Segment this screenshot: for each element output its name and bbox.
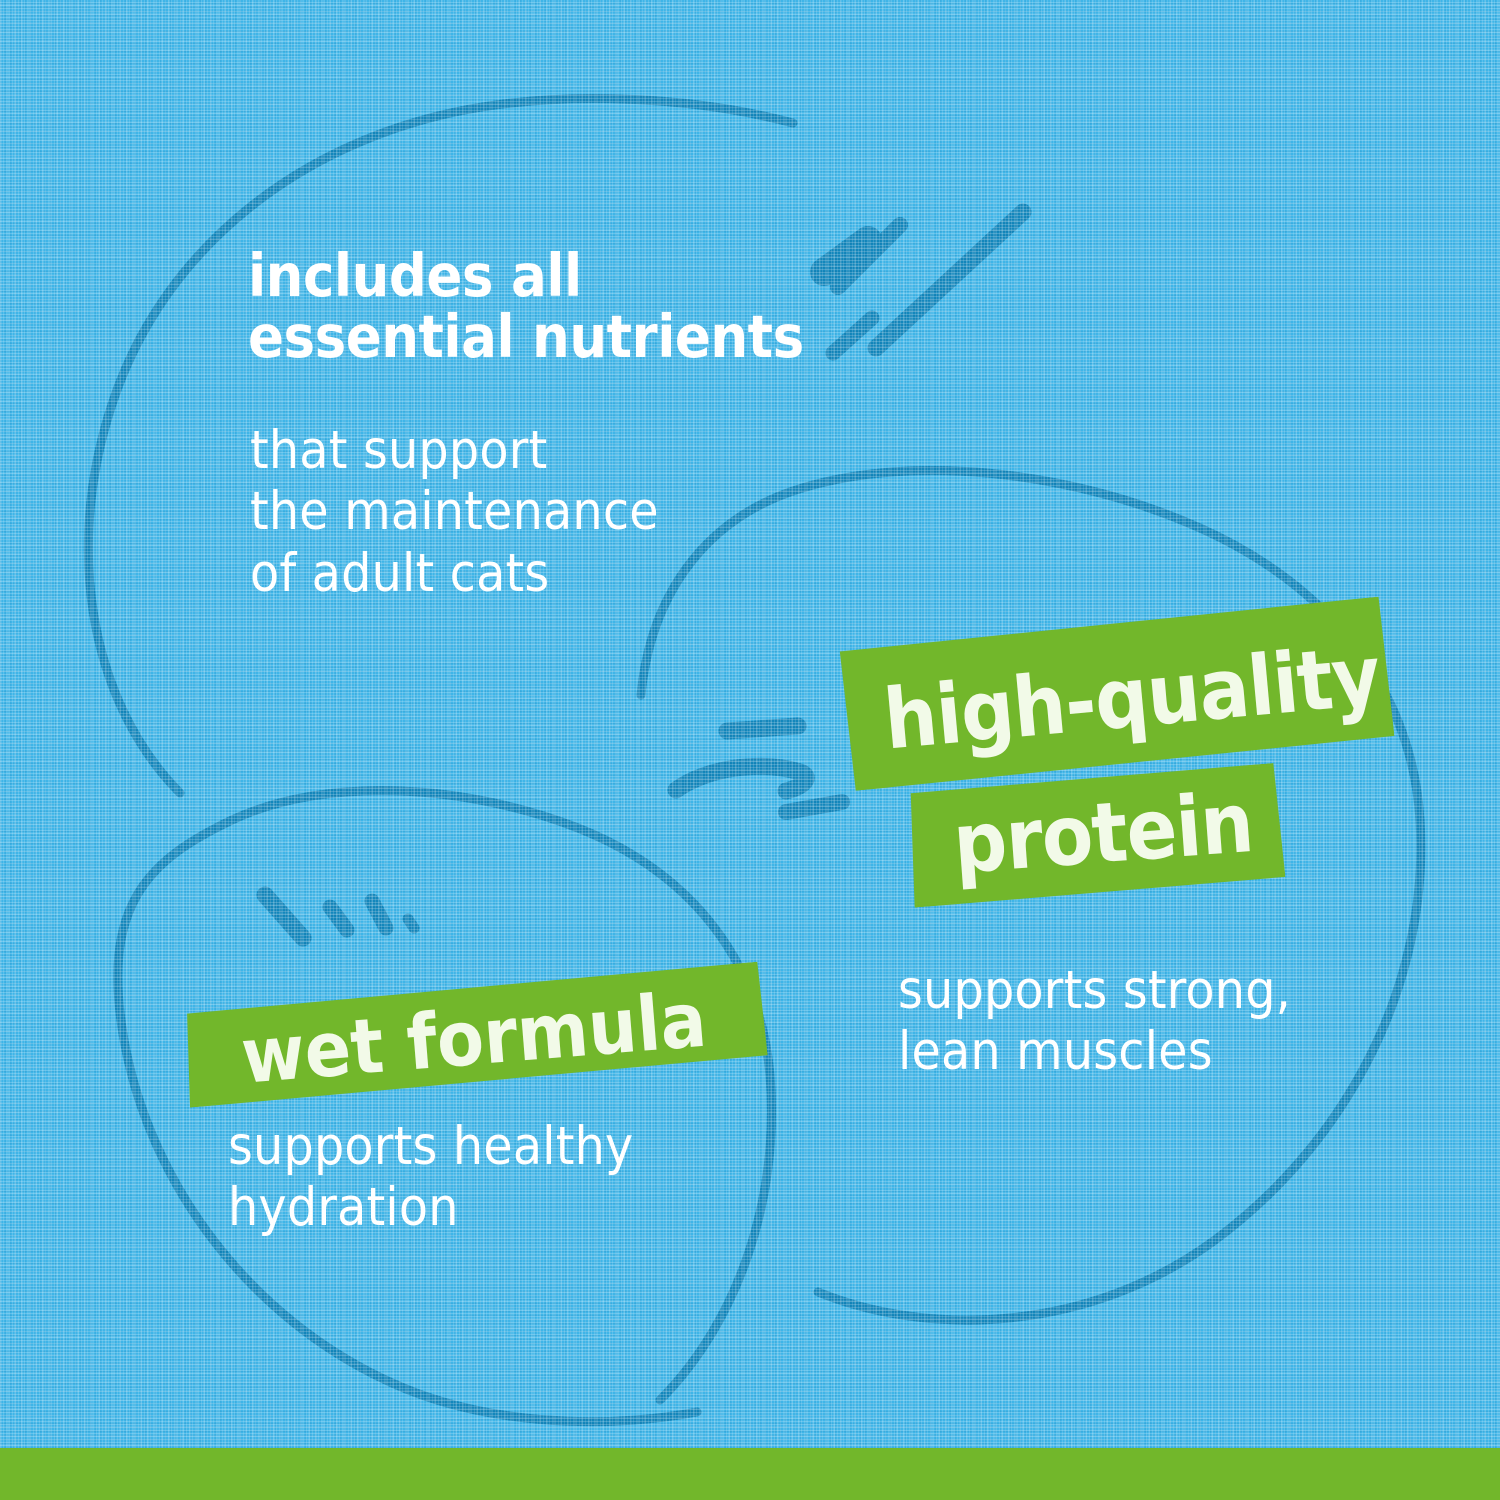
nutrients-headline: includes all essential nutrients <box>248 246 868 368</box>
sparkle-center-icon <box>676 726 842 812</box>
bottom-accent-bar <box>0 1448 1500 1500</box>
sparkle-wet-formula-icon <box>265 895 414 938</box>
nutrients-body: that support the maintenance of adult ca… <box>250 420 810 604</box>
promo-graphic-canvas: includes all essential nutrients that su… <box>0 0 1500 1500</box>
decorative-line-art <box>0 0 1500 1500</box>
wet-formula-body: supports healthy hydration <box>228 1116 708 1239</box>
circle-bottom-left-icon <box>118 791 772 1422</box>
protein-body: supports strong, lean muscles <box>898 960 1358 1083</box>
